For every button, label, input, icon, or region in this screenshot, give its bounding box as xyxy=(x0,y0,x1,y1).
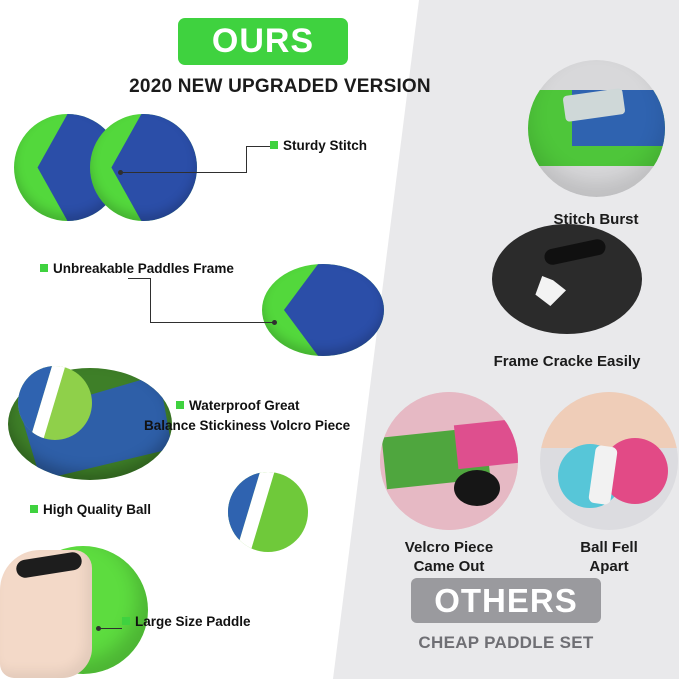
bullet-square-icon xyxy=(176,401,184,409)
photo-stitch-burst xyxy=(528,60,665,197)
photo-ball-fell-apart xyxy=(540,392,678,530)
leader-line-sturdy-stitch-h xyxy=(120,172,246,173)
hand-image xyxy=(540,392,678,448)
label-text: Sturdy Stitch xyxy=(283,138,367,153)
leader-line-sturdy-stitch-h2 xyxy=(246,146,270,147)
leader-line-unbreakable-h xyxy=(150,322,274,323)
leader-line-unbreakable-v xyxy=(150,278,151,323)
label-waterproof-velcro-line2: Balance Stickiness Volcro Piece xyxy=(144,418,350,433)
photo-vignette xyxy=(528,60,665,197)
caption-velcro-came-out-line1: Velcro Piece xyxy=(378,538,520,557)
label-text: Large Size Paddle xyxy=(135,614,251,629)
bullet-square-icon xyxy=(40,264,48,272)
paddle-rim xyxy=(90,114,197,221)
ours-badge: OURS xyxy=(178,18,348,65)
leader-line-unbreakable-h2 xyxy=(128,278,151,279)
pink-paddle-detail xyxy=(454,419,518,469)
ours-subtitle: 2020 NEW UPGRADED VERSION xyxy=(100,76,460,98)
comparison-infographic: OURS 2020 NEW UPGRADED VERSION xyxy=(0,0,679,679)
paddle-rim xyxy=(262,264,384,356)
label-text: Unbreakable Paddles Frame xyxy=(53,261,234,276)
detached-velcro-disc xyxy=(454,470,500,506)
leader-line-sturdy-stitch-v xyxy=(246,146,247,173)
caption-velcro-came-out-line2: Came Out xyxy=(378,557,520,576)
others-badge-label: OTHERS xyxy=(434,582,578,620)
label-text: High Quality Ball xyxy=(43,502,151,517)
label-sturdy-stitch: Sturdy Stitch xyxy=(270,138,367,153)
label-high-quality-ball: High Quality Ball xyxy=(30,502,151,517)
ball-image-on-paddle xyxy=(18,366,92,440)
paddle-image-middle xyxy=(262,264,384,356)
bullet-square-icon xyxy=(270,141,278,149)
leader-line-large-paddle xyxy=(98,628,122,629)
label-large-size-paddle: Large Size Paddle xyxy=(122,614,251,629)
label-unbreakable-frame: Unbreakable Paddles Frame xyxy=(40,261,234,276)
bullet-square-icon xyxy=(122,617,130,625)
bullet-square-icon xyxy=(30,505,38,513)
crack-detail xyxy=(532,276,566,306)
caption-ball-fell-apart-line1: Ball Fell xyxy=(538,538,679,557)
label-text: Waterproof Great xyxy=(189,398,300,413)
paddle-image-top-right xyxy=(90,114,197,221)
ball-image-standalone xyxy=(228,472,308,552)
ours-badge-label: OURS xyxy=(212,22,314,61)
caption-stitch-burst: Stitch Burst xyxy=(505,210,679,229)
caption-ball-fell-apart-line2: Apart xyxy=(538,557,679,576)
others-subtitle: CHEAP PADDLE SET xyxy=(386,633,626,653)
paddle-strap xyxy=(543,238,607,267)
caption-frame-cracke: Frame Cracke Easily xyxy=(452,352,679,371)
photo-frame-cracke xyxy=(492,224,642,334)
photo-velcro-came-out xyxy=(380,392,518,530)
others-badge: OTHERS xyxy=(411,578,601,623)
label-text: Balance Stickiness Volcro Piece xyxy=(144,418,350,433)
label-waterproof-velcro-line1: Waterproof Great xyxy=(176,398,300,413)
